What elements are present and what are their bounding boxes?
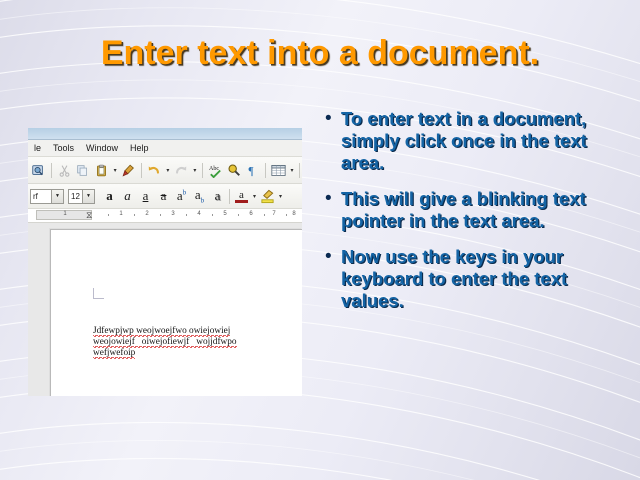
table-icon[interactable] xyxy=(270,161,287,180)
font-name-value: rf xyxy=(33,192,51,201)
chevron-down-icon[interactable]: ▾ xyxy=(251,187,258,206)
ruler-tick: 1 xyxy=(119,211,122,217)
copy-icon[interactable] xyxy=(74,161,91,180)
document-line: weojowiejf oiwejofiewjf wojjdfwpo xyxy=(93,337,298,348)
toolbar-separator xyxy=(51,163,52,178)
find-replace-icon[interactable] xyxy=(226,161,243,180)
font-color-icon[interactable]: a xyxy=(233,187,250,205)
writer-menubar: le Tools Window Help xyxy=(28,140,302,157)
ruler-minor-tick xyxy=(134,214,135,216)
strikethrough-icon[interactable]: a xyxy=(155,187,172,205)
text-boundary-corner-icon xyxy=(93,288,104,299)
misspelled-text: Jdfewpjwp weojwoejfwo owiejowiej xyxy=(93,326,230,337)
font-size-value: 12 xyxy=(71,192,82,201)
highlight-color-icon[interactable] xyxy=(259,187,276,205)
chevron-down-icon[interactable]: ▾ xyxy=(192,161,198,180)
ruler-minor-tick xyxy=(212,214,213,216)
spelling-icon[interactable]: Abc xyxy=(207,161,224,180)
misspelled-text: wefjwefoip xyxy=(93,348,135,359)
menu-item-help[interactable]: Help xyxy=(130,143,149,153)
ruler-tick: 7 xyxy=(272,211,275,217)
document-page[interactable]: Jdfewpjwp weojwoejfwo owiejowiej weojowi… xyxy=(50,229,302,396)
indent-marker-icon[interactable]: ⧖ xyxy=(86,209,92,221)
bullet-text: This will give a blinking text pointer i… xyxy=(341,188,622,232)
ruler-tick: 4 xyxy=(197,211,200,217)
bold-icon[interactable]: a xyxy=(101,187,118,205)
bullet-marker-icon: • xyxy=(322,108,341,130)
menu-item-tools[interactable]: Tools xyxy=(53,143,74,153)
chevron-down-icon[interactable]: ▼ xyxy=(51,190,63,203)
ruler-tick: 8 xyxy=(292,211,295,217)
ruler-minor-tick xyxy=(186,214,187,216)
chevron-down-icon[interactable]: ▾ xyxy=(165,161,171,180)
formatting-marks-icon[interactable]: ¶ xyxy=(244,161,261,180)
document-text-area[interactable]: Jdfewpjwp weojwoejfwo owiejowiej weojowi… xyxy=(93,326,298,359)
shadow-icon[interactable]: a xyxy=(209,187,226,205)
ruler-tick: 5 xyxy=(223,211,226,217)
chevron-down-icon[interactable]: ▾ xyxy=(112,161,118,180)
toolbar-separator xyxy=(202,163,203,178)
bullet-marker-icon: • xyxy=(322,188,341,210)
paste-icon[interactable] xyxy=(93,161,110,180)
writer-workspace: Jdfewpjwp weojwoejfwo owiejowiej weojowi… xyxy=(28,223,302,396)
ruler-minor-tick xyxy=(108,214,109,216)
underline-icon[interactable]: a xyxy=(137,187,154,205)
writer-horizontal-ruler[interactable]: 1 1 2 3 4 5 6 7 8 ⧖ xyxy=(28,209,302,223)
toolbar-separator xyxy=(229,189,230,204)
ruler-minor-tick xyxy=(286,214,287,216)
subscript-icon[interactable]: ab xyxy=(191,187,208,205)
writer-formatting-toolbar: rf ▼ 12 ▼ a a a a ab ab xyxy=(28,184,302,209)
ruler-minor-tick xyxy=(160,214,161,216)
ruler-minor-tick xyxy=(264,214,265,216)
menu-item-file[interactable]: le xyxy=(34,143,41,153)
ruler-tick: 6 xyxy=(249,211,252,217)
menu-item-window[interactable]: Window xyxy=(86,143,118,153)
bullet-text: Now use the keys in your keyboard to ent… xyxy=(341,246,622,312)
redo-icon[interactable] xyxy=(173,161,190,180)
list-item: • Now use the keys in your keyboard to e… xyxy=(322,246,622,312)
document-line: Jdfewpjwp weojwoejfwo owiejowiej xyxy=(93,326,298,337)
toolbar-separator xyxy=(299,163,300,178)
bullet-marker-icon: • xyxy=(322,246,341,268)
chevron-down-icon[interactable]: ▾ xyxy=(277,187,284,206)
svg-text:¶: ¶ xyxy=(249,165,255,176)
chevron-down-icon[interactable]: ▾ xyxy=(289,161,295,180)
document-line: wefjwefoip xyxy=(93,348,298,359)
list-item: • To enter text in a document, simply cl… xyxy=(322,108,622,174)
writer-standard-toolbar: ▾ ▾ ▾ xyxy=(28,157,302,184)
italic-icon[interactable]: a xyxy=(119,187,136,205)
toolbar-separator xyxy=(141,163,142,178)
cut-icon[interactable] xyxy=(56,161,73,180)
slide: Enter text into a document. • To enter t… xyxy=(0,0,640,480)
writer-screenshot-image: le Tools Window Help xyxy=(28,128,302,396)
slide-body-bullets: • To enter text in a document, simply cl… xyxy=(322,108,622,326)
chevron-down-icon[interactable]: ▼ xyxy=(82,190,94,203)
ruler-minor-tick xyxy=(238,214,239,216)
writer-titlebar xyxy=(28,128,302,140)
ruler-tick: 2 xyxy=(145,211,148,217)
font-name-combobox[interactable]: rf ▼ xyxy=(30,189,64,204)
font-size-combobox[interactable]: 12 ▼ xyxy=(68,189,95,204)
superscript-icon[interactable]: ab xyxy=(173,187,190,205)
undo-icon[interactable] xyxy=(146,161,163,180)
svg-text:Abc: Abc xyxy=(209,166,219,172)
clone-formatting-icon[interactable] xyxy=(120,161,137,180)
ruler-tick: 1 xyxy=(63,211,66,217)
ruler-tick: 3 xyxy=(171,211,174,217)
print-preview-icon[interactable] xyxy=(30,161,47,180)
toolbar-separator xyxy=(265,163,266,178)
slide-title: Enter text into a document. xyxy=(40,34,600,73)
bullet-text: To enter text in a document, simply clic… xyxy=(341,108,622,174)
list-item: • This will give a blinking text pointer… xyxy=(322,188,622,232)
misspelled-text: weojowiejf oiwejofiewjf wojjdfwpo xyxy=(93,337,237,348)
